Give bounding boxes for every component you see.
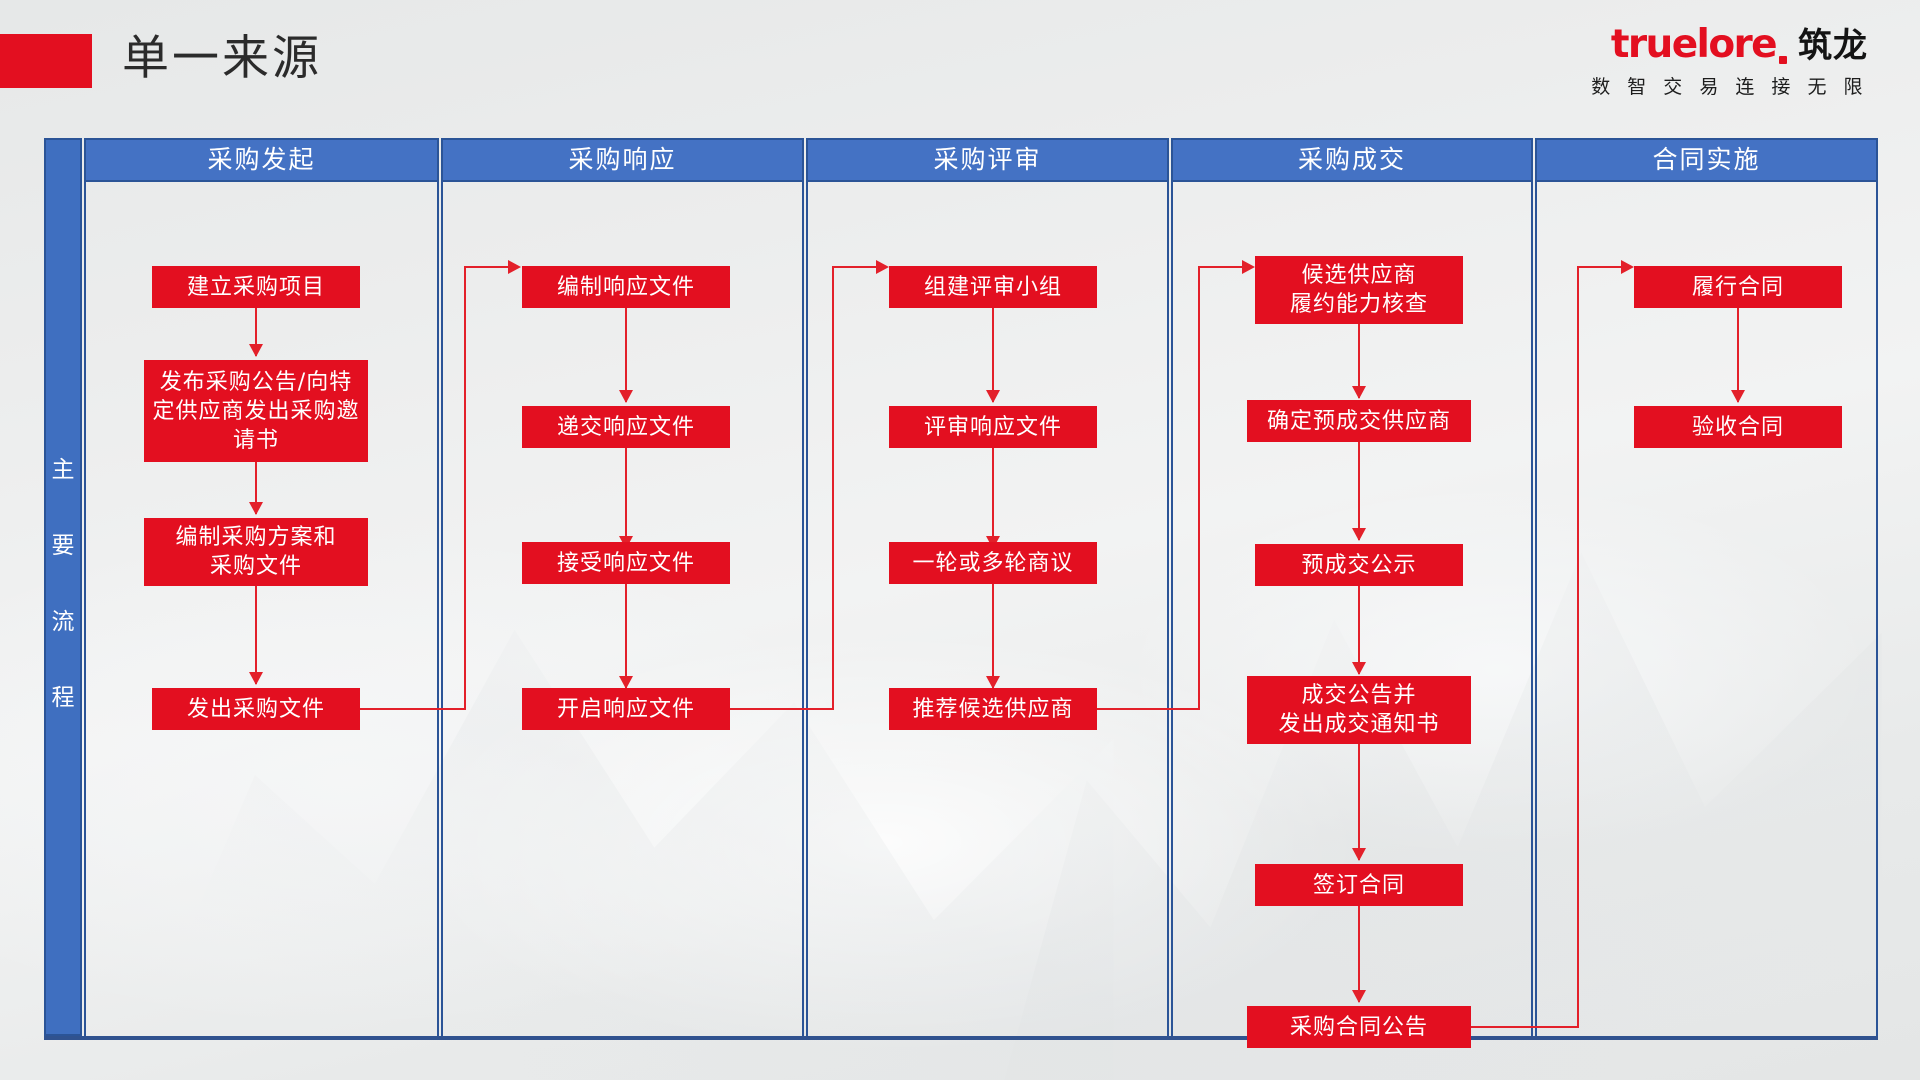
node-recommend-candidate-supplier[interactable]: 推荐候选供应商: [889, 688, 1097, 730]
node-issue-documents[interactable]: 发出采购文件: [152, 688, 360, 730]
node-establish-project[interactable]: 建立采购项目: [152, 266, 360, 308]
node-negotiation-rounds[interactable]: 一轮或多轮商议: [889, 542, 1097, 584]
sidebar-label-char-3: 程: [46, 660, 80, 736]
node-perform-contract[interactable]: 履行合同: [1634, 266, 1842, 308]
column-header-2: 采购响应: [441, 138, 804, 182]
node-publish-announcement[interactable]: 发布采购公告/向特 定供应商发出采购邀 请书: [144, 360, 368, 462]
column-body-1: [84, 182, 439, 1036]
node-confirm-prewin-supplier[interactable]: 确定预成交供应商: [1247, 400, 1471, 442]
connector-c1-to-c2-horizontal-out: [360, 708, 466, 710]
connector-c4-n5-n6: [1358, 906, 1360, 1002]
connector-c2-n1-n2: [625, 308, 627, 402]
arrowhead-c4-n2-n3: [1352, 528, 1366, 541]
node-prepare-response[interactable]: 编制响应文件: [522, 266, 730, 308]
arrowhead-c1-n3-n4: [249, 672, 263, 685]
node-form-review-panel[interactable]: 组建评审小组: [889, 266, 1097, 308]
connector-c4-n2-n3: [1358, 442, 1360, 540]
column-body-2: [441, 182, 804, 1036]
connector-c1-to-c2-vertical: [464, 266, 466, 710]
connector-c2-to-c3-vertical: [832, 266, 834, 710]
arrowhead-c3-n1-n2: [986, 390, 1000, 403]
sidebar-main-process-label: 主 要 流 程: [44, 138, 82, 1036]
node-review-response-docs[interactable]: 评审响应文件: [889, 406, 1097, 448]
connector-c1-n3-n4: [255, 586, 257, 684]
node-prepare-plan-documents[interactable]: 编制采购方案和 采购文件: [144, 518, 368, 586]
connector-c3-n2-n3: [992, 448, 994, 548]
page-header: 单一来源 truelore 筑龙 数 智 交 易 连 接 无 限: [0, 0, 1920, 118]
connector-c2-n3-n4: [625, 584, 627, 688]
connector-c3-n1-n2: [992, 308, 994, 402]
sidebar-label-char-1: 要: [46, 508, 80, 584]
column-header-3: 采购评审: [806, 138, 1169, 182]
column-header-1: 采购发起: [84, 138, 439, 182]
arrowhead-c4-n3-n4: [1352, 662, 1366, 675]
brand-chinese-wordmark: 筑龙: [1798, 18, 1868, 67]
page-title: 单一来源: [122, 28, 322, 90]
column-header-5: 合同实施: [1535, 138, 1878, 182]
arrowhead-c1-n1-n2: [249, 344, 263, 357]
arrowhead-c4-n5-n6: [1352, 990, 1366, 1003]
connector-c5-n1-n2: [1737, 308, 1739, 402]
node-prewin-announcement[interactable]: 预成交公示: [1255, 544, 1463, 586]
connector-c4-to-c5-horizontal-out: [1471, 1026, 1579, 1028]
connector-c3-to-c4-horizontal-in: [1198, 266, 1248, 268]
brand-dot-icon: [1779, 56, 1787, 64]
arrowhead-c4-n4-n5: [1352, 848, 1366, 861]
brand-tagline: 数 智 交 易 连 接 无 限: [1591, 72, 1868, 99]
column-body-5: [1535, 182, 1878, 1036]
brand-logo: truelore 筑龙 数 智 交 易 连 接 无 限: [1591, 18, 1868, 99]
connector-c2-to-c3-horizontal-in: [832, 266, 882, 268]
connector-c4-to-c5-horizontal-in: [1577, 266, 1627, 268]
brand-latin-wordmark: truelore: [1611, 22, 1776, 67]
connector-c1-to-c2-horizontal-in: [464, 266, 514, 268]
connector-c3-to-c4-horizontal-out: [1097, 708, 1200, 710]
arrowhead-c1-n2-n3: [249, 502, 263, 515]
connector-c3-to-c4-vertical: [1198, 266, 1200, 710]
node-accept-contract[interactable]: 验收合同: [1634, 406, 1842, 448]
arrowhead-c1-to-c2: [508, 260, 521, 274]
arrowhead-c2-to-c3: [876, 260, 889, 274]
sidebar-label-char-0: 主: [46, 432, 80, 508]
column-header-4: 采购成交: [1171, 138, 1533, 182]
arrowhead-c4-n1-n2: [1352, 386, 1366, 399]
node-accept-response[interactable]: 接受响应文件: [522, 542, 730, 584]
connector-c4-n4-n5: [1358, 744, 1360, 860]
node-sign-contract[interactable]: 签订合同: [1255, 864, 1463, 906]
brand-logo-line: truelore 筑龙: [1591, 18, 1868, 67]
arrowhead-c5-n1-n2: [1731, 390, 1745, 403]
node-contract-announcement[interactable]: 采购合同公告: [1247, 1006, 1471, 1048]
process-flow-diagram: 主 要 流 程 采购发起 采购响应 采购评审 采购成交 合同实施 建立采购项目 …: [44, 138, 1878, 1040]
arrowhead-c3-to-c4: [1242, 260, 1255, 274]
connector-c2-to-c3-horizontal-out: [730, 708, 834, 710]
node-submit-response[interactable]: 递交响应文件: [522, 406, 730, 448]
connector-c4-n3-n4: [1358, 586, 1360, 674]
node-award-announcement-notice[interactable]: 成交公告并 发出成交通知书: [1247, 676, 1471, 744]
arrowhead-c2-n1-n2: [619, 390, 633, 403]
title-accent-bar: [0, 34, 92, 88]
node-supplier-capability-check[interactable]: 候选供应商 履约能力核查: [1255, 256, 1463, 324]
column-body-3: [806, 182, 1169, 1036]
node-open-response[interactable]: 开启响应文件: [522, 688, 730, 730]
connector-c3-n3-n4: [992, 584, 994, 688]
connector-c4-to-c5-vertical: [1577, 266, 1579, 1028]
connector-c2-n2-n3: [625, 448, 627, 548]
arrowhead-c4-to-c5: [1621, 260, 1634, 274]
sidebar-label-char-2: 流: [46, 584, 80, 660]
